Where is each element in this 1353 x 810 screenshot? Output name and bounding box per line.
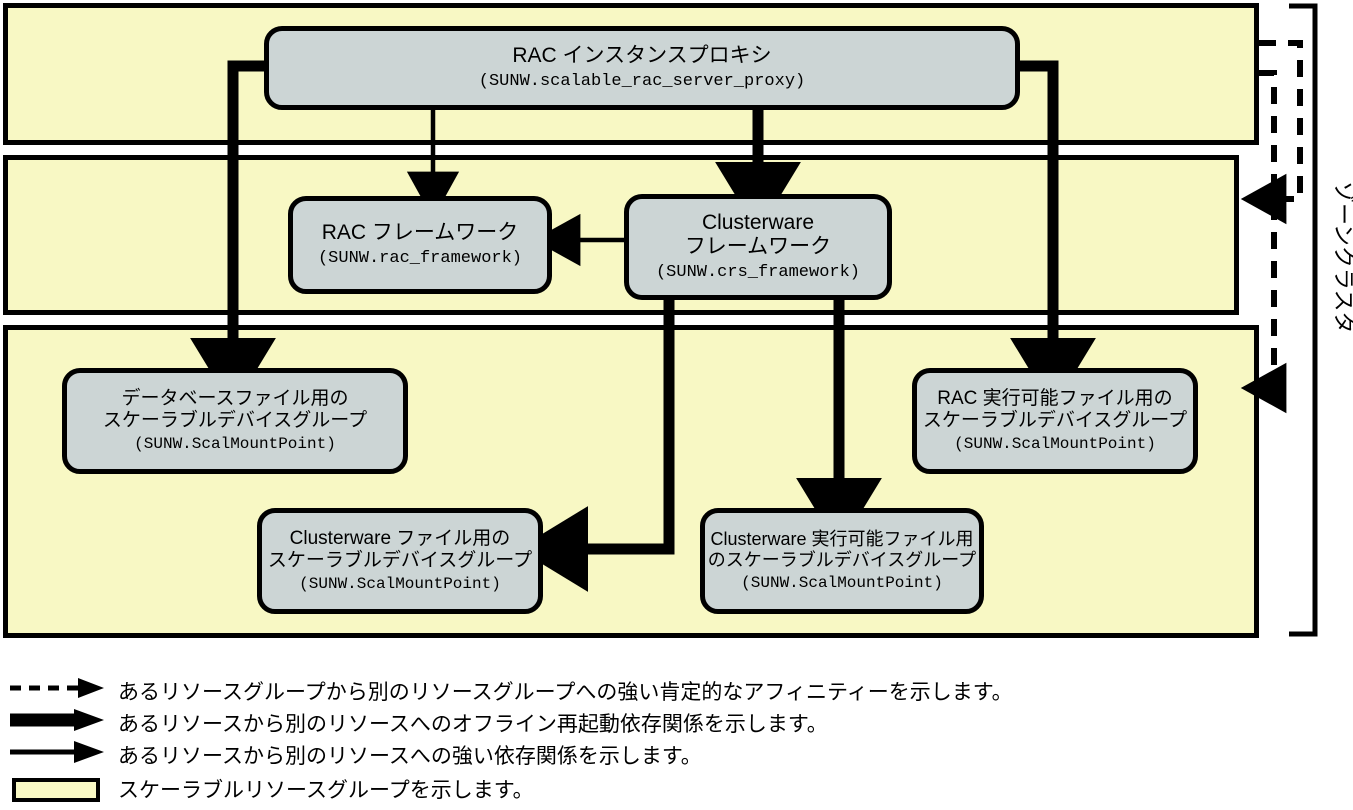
node-subtitle: (SUNW.rac_framework): [318, 249, 522, 269]
legend: あるリソースグループから別のリソースグループへの強い肯定的なアフィニティーを示し…: [0, 660, 1353, 810]
zone-cluster-label: ゾーンクラスタ: [1329, 181, 1353, 351]
diagram-canvas: RAC インスタンスプロキシ (SUNW.scalable_rac_server…: [0, 0, 1353, 810]
node-rac-instance-proxy[interactable]: RAC インスタンスプロキシ (SUNW.scalable_rac_server…: [264, 26, 1020, 110]
node-subtitle: (SUNW.ScalMountPoint): [741, 574, 943, 593]
legend-marker-yellow-swatch-icon: [12, 778, 100, 802]
node-subtitle: (SUNW.ScalMountPoint): [299, 575, 501, 594]
legend-marker-thick-arrow-icon: [8, 708, 108, 732]
node-subtitle: (SUNW.crs_framework): [656, 263, 860, 283]
node-clusterware-framework[interactable]: Clusterware フレームワーク (SUNW.crs_framework): [624, 194, 892, 300]
node-subtitle: (SUNW.ScalMountPoint): [954, 435, 1156, 454]
node-subtitle: (SUNW.scalable_rac_server_proxy): [479, 72, 805, 92]
node-title: データベースファイル用の スケーラブルデバイスグループ: [103, 388, 367, 433]
node-title: RAC 実行可能ファイル用の スケーラブルデバイスグループ: [923, 388, 1187, 433]
node-title: Clusterware 実行可能ファイル用 のスケーラブルデバイスグループ: [708, 529, 976, 571]
node-rac-framework[interactable]: RAC フレームワーク (SUNW.rac_framework): [288, 196, 552, 294]
legend-marker-thin-arrow-icon: [8, 740, 108, 764]
node-subtitle: (SUNW.ScalMountPoint): [134, 435, 336, 454]
node-rac-binaries-device-group[interactable]: RAC 実行可能ファイル用の スケーラブルデバイスグループ (SUNW.Scal…: [912, 368, 1198, 474]
legend-marker-dashed-arrow-icon: [8, 676, 108, 700]
legend-label: スケーラブルリソースグループを示します。: [118, 774, 534, 804]
node-title: RAC インスタンスプロキシ: [512, 44, 771, 69]
node-title: Clusterware ファイル用の スケーラブルデバイスグループ: [268, 528, 532, 573]
node-db-files-device-group[interactable]: データベースファイル用の スケーラブルデバイスグループ (SUNW.ScalMo…: [62, 368, 408, 474]
legend-label: あるリソースから別のリソースへのオフライン再起動依存関係を示します。: [118, 708, 828, 738]
legend-label: あるリソースグループから別のリソースグループへの強い肯定的なアフィニティーを示し…: [118, 676, 1013, 706]
node-title: Clusterware フレームワーク: [685, 211, 831, 261]
node-clusterware-binaries-device-group[interactable]: Clusterware 実行可能ファイル用 のスケーラブルデバイスグループ (S…: [700, 508, 984, 614]
node-title: RAC フレームワーク: [322, 221, 519, 246]
legend-label: あるリソースから別のリソースへの強い依存関係を示します。: [118, 740, 702, 770]
node-clusterware-files-device-group[interactable]: Clusterware ファイル用の スケーラブルデバイスグループ (SUNW.…: [257, 508, 543, 614]
